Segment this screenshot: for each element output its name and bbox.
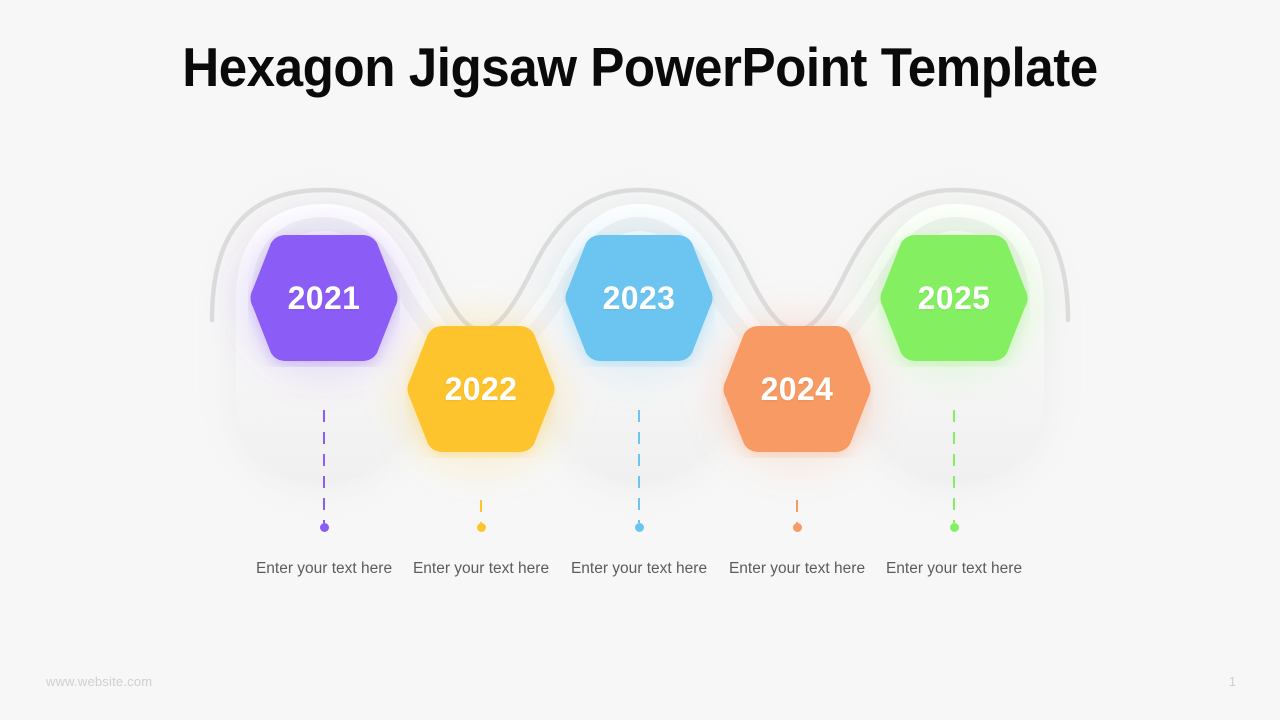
slide-canvas: Hexagon Jigsaw PowerPoint Template: [0, 0, 1280, 720]
hexagon-jigsaw-diagram: 20212022202320242025 Enter your text her…: [0, 0, 1280, 720]
connector-dot: [635, 523, 644, 532]
dashed-line: [638, 410, 640, 523]
hexagon-step-2025[interactable]: 2025: [878, 229, 1030, 367]
connector-stem-2023: [638, 410, 640, 523]
connector-stem-2025: [953, 410, 955, 523]
hexagon-step-2023[interactable]: 2023: [563, 229, 715, 367]
hexagon-year-label: 2024: [761, 371, 834, 408]
connector-stem-2024: [796, 500, 798, 523]
connector-stem-2021: [323, 410, 325, 523]
dashed-line: [796, 500, 798, 523]
dashed-line: [480, 500, 482, 523]
caption-text-2025[interactable]: Enter your text here: [879, 557, 1029, 580]
dashed-line: [953, 410, 955, 523]
connector-stem-2022: [480, 500, 482, 523]
caption-text-2022[interactable]: Enter your text here: [406, 557, 556, 580]
connector-dot: [793, 523, 802, 532]
caption-text-2021[interactable]: Enter your text here: [249, 557, 399, 580]
hexagon-step-2024[interactable]: 2024: [721, 320, 873, 458]
connector-dot: [477, 523, 486, 532]
hexagon-step-2021[interactable]: 2021: [248, 229, 400, 367]
hexagon-year-label: 2022: [445, 371, 518, 408]
caption-text-2023[interactable]: Enter your text here: [564, 557, 714, 580]
hexagon-year-label: 2023: [603, 280, 676, 317]
hexagon-year-label: 2021: [288, 280, 361, 317]
dashed-line: [323, 410, 325, 523]
hexagon-year-label: 2025: [918, 280, 991, 317]
connector-dot: [320, 523, 329, 532]
footer-page-number: 1: [1229, 674, 1236, 689]
footer-website[interactable]: www.website.com: [46, 674, 152, 689]
connector-dot: [950, 523, 959, 532]
caption-text-2024[interactable]: Enter your text here: [722, 557, 872, 580]
hexagon-step-2022[interactable]: 2022: [405, 320, 557, 458]
